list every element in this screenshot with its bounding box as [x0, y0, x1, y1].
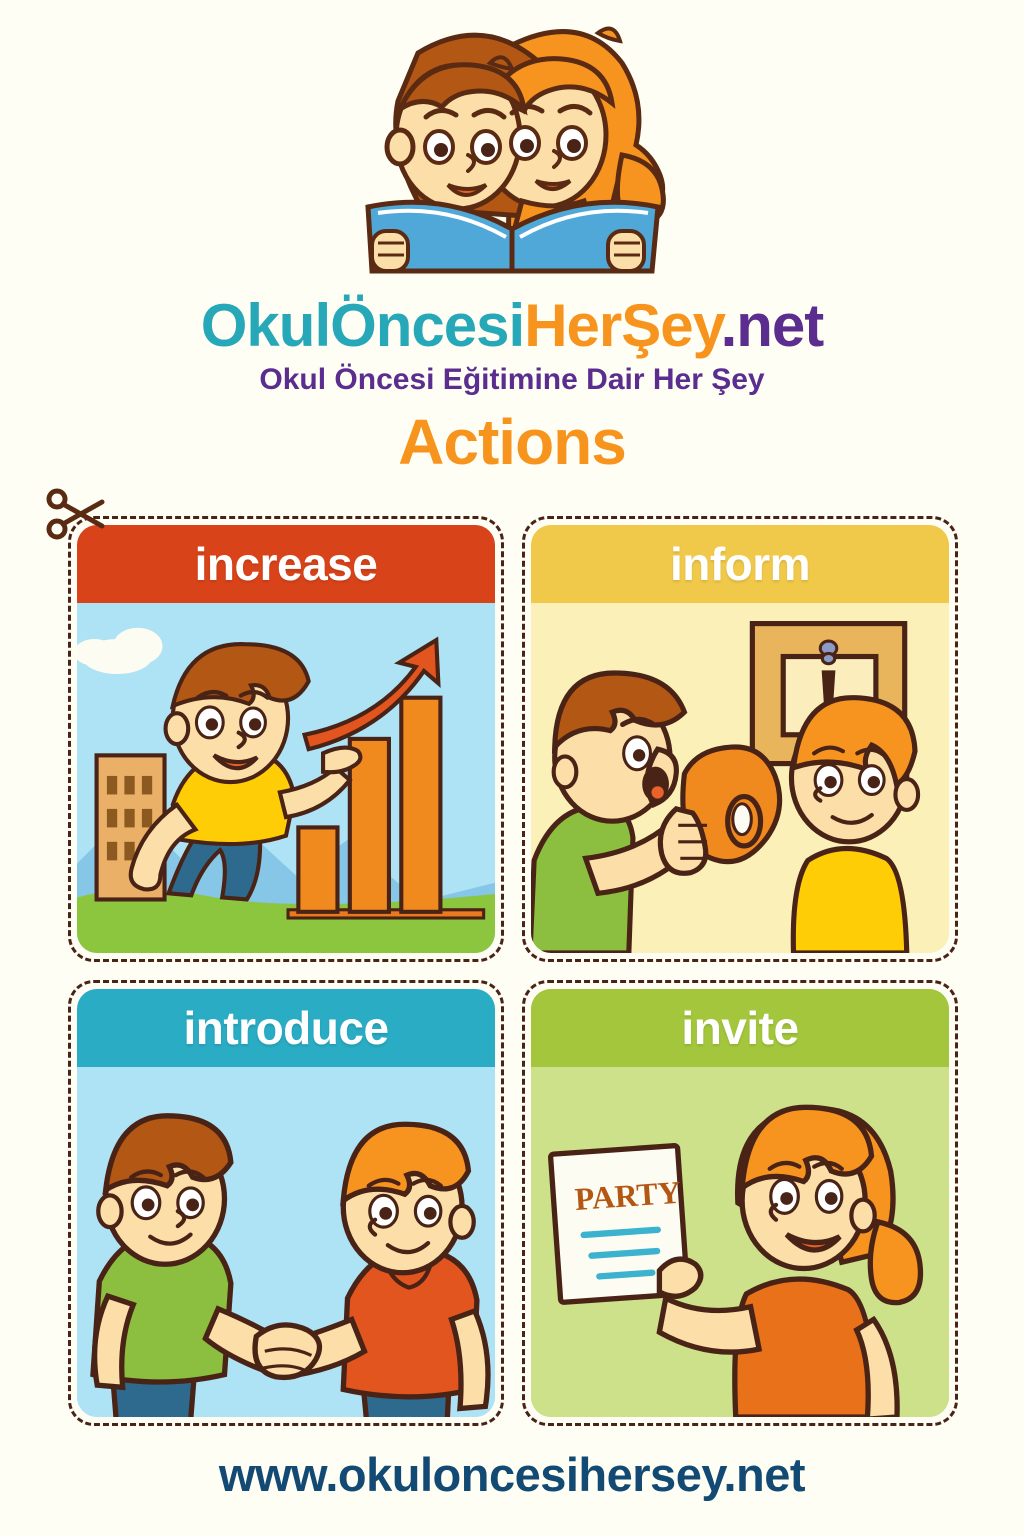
page-title: Actions [0, 405, 1024, 479]
flashcard-image-increase [77, 603, 495, 953]
flashcard-invite[interactable]: invite PARTY [531, 989, 949, 1417]
flashcard-cut-sheet: increase [68, 516, 958, 1426]
brand-subtitle: Okul Öncesi Eğitimine Dair Her Şey [0, 363, 1024, 397]
flashcard-image-introduce [77, 1067, 495, 1417]
flashcard-header-invite: invite [531, 989, 949, 1067]
flashcard-image-invite: PARTY [531, 1067, 949, 1417]
flashcard-header-inform: inform [531, 525, 949, 603]
flashcard-slot-increase: increase [68, 516, 504, 962]
flashcard-image-inform [531, 603, 949, 953]
brand-part-tld: .net [721, 292, 824, 359]
flashcard-slot-introduce: introduce [68, 980, 504, 1426]
two-children-reading-book-icon [322, 5, 702, 280]
flashcard-label-increase: increase [195, 537, 378, 591]
flashcard-header-introduce: introduce [77, 989, 495, 1067]
scissors-icon [46, 486, 112, 544]
mascot-illustration [0, 0, 1024, 280]
brand-part-okuloncesi: OkulÖncesi [201, 292, 524, 359]
flashcard-inform[interactable]: inform [531, 525, 949, 953]
flashcard-header-increase: increase [77, 525, 495, 603]
two-boys-shaking-hands-icon [77, 1067, 495, 1417]
brand-logo-text: OkulÖncesiHerŞey.net [0, 294, 1024, 357]
flashcard-introduce[interactable]: introduce [77, 989, 495, 1417]
flashcard-grid: increase [68, 516, 958, 1426]
flashcard-label-invite: invite [681, 1001, 798, 1055]
footer-website-url[interactable]: www.okuloncesihersey.net [0, 1447, 1024, 1502]
girl-holding-party-invitation-icon: PARTY [531, 1067, 949, 1417]
flashcard-label-inform: inform [670, 537, 810, 591]
brand-part-hersey: HerŞey [524, 292, 720, 359]
flashcard-label-introduce: introduce [183, 1001, 388, 1055]
boy-pointing-at-rising-bar-chart-icon [77, 603, 495, 953]
boy-with-megaphone-informing-child-icon [531, 603, 949, 953]
invitation-title: PARTY [574, 1175, 682, 1217]
flashcard-increase[interactable]: increase [77, 525, 495, 953]
flashcard-slot-invite: invite PARTY [522, 980, 958, 1426]
flashcard-slot-inform: inform [522, 516, 958, 962]
